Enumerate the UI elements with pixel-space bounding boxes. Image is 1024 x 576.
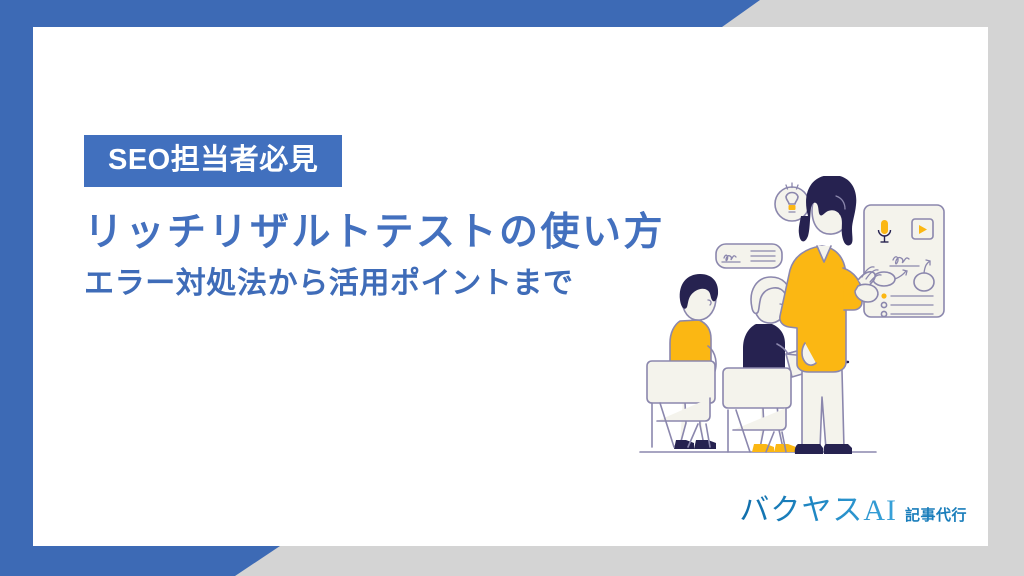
brand-logo-name: バクヤスAI <box>739 485 897 529</box>
text-bubble-icon <box>716 244 782 268</box>
page-title: リッチリザルトテストの使い方 <box>84 209 684 257</box>
frame-blue-left-band <box>0 0 33 576</box>
frame-blue-top-band <box>0 0 780 27</box>
brand-logo: バクヤスAI 記事代行 <box>739 485 967 529</box>
slide-canvas: SEO担当者必見 リッチリザルトテストの使い方 エラー対処法から活用ポイントまで… <box>0 0 1024 576</box>
presentation-illustration: .ol { fill:none; stroke:#8b87ad; stroke-… <box>636 176 984 476</box>
text-block: SEO担当者必見 リッチリザルトテストの使い方 エラー対処法から活用ポイントまで <box>84 135 684 302</box>
presentation-board <box>864 205 944 317</box>
idea-lightbulb-icon <box>775 183 809 221</box>
page-subtitle: エラー対処法から活用ポイントまで <box>84 265 684 303</box>
seated-person-left <box>647 274 718 449</box>
brand-logo-tagline: 記事代行 <box>905 504 967 525</box>
status-badge: SEO担当者必見 <box>84 135 342 187</box>
